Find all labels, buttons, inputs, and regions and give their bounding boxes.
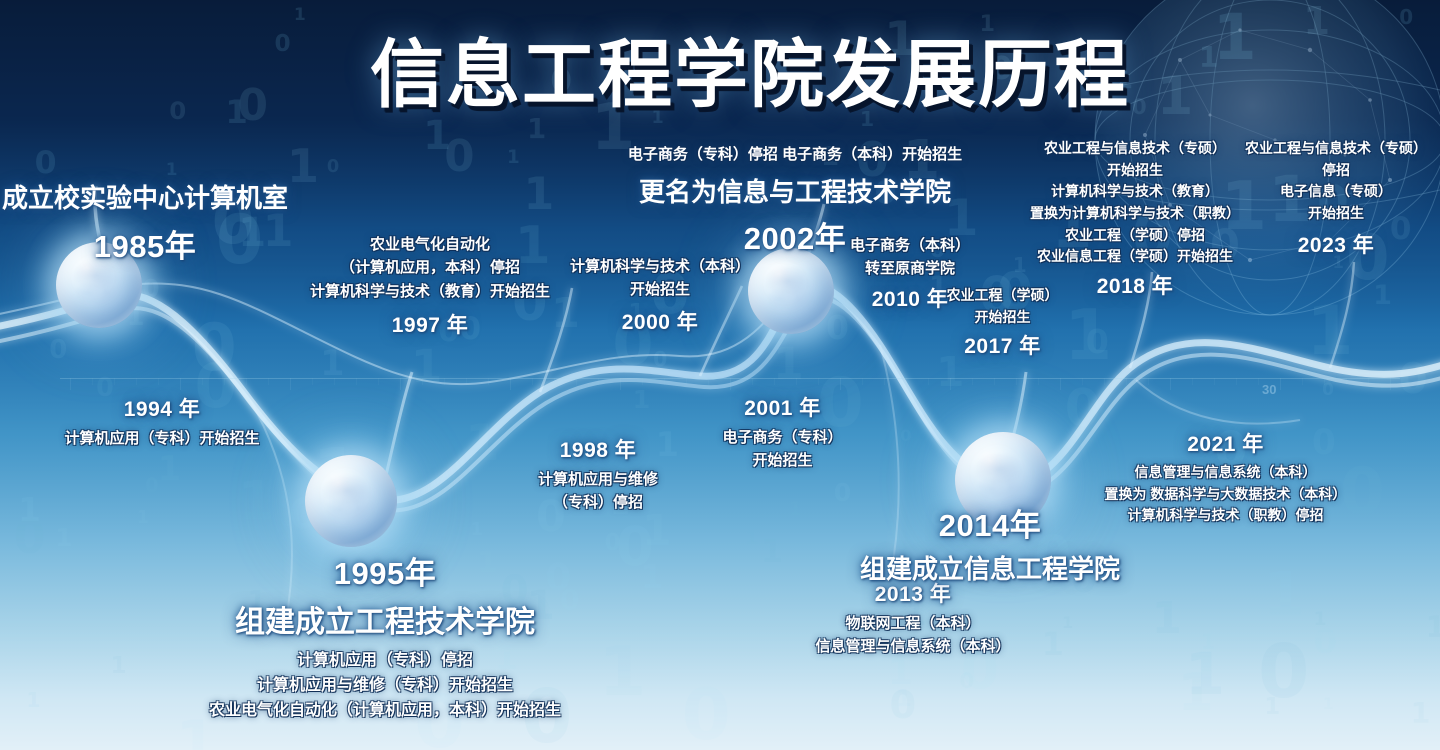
milestone-2001-line-1: 电子商务（专科）: [690, 426, 875, 449]
milestone-1995-line-3: 农业电气化自动化（计算机应用，本科）开始招生: [150, 699, 620, 724]
milestone-2001[interactable]: 2001 年 电子商务（专科） 开始招生: [690, 392, 875, 473]
milestone-1997-line-3: 计算机科学与技术（教育）开始招生: [295, 280, 565, 303]
milestone-2013-line-2: 信息管理与信息系统（本科）: [788, 635, 1038, 658]
milestone-1994[interactable]: 1994 年 计算机应用（专科）开始招生: [22, 393, 302, 450]
milestone-1997-line-1: 农业电气化自动化: [295, 233, 565, 256]
milestone-2021-line-2: 置换为 数据科学与大数据技术（本科）: [1098, 484, 1353, 506]
milestone-2021-year: 2021 年: [1098, 428, 1353, 458]
milestone-2010-line-1: 电子商务（本科）: [820, 234, 1000, 257]
milestone-1998-line-2: （专科）停招: [498, 491, 698, 514]
milestone-2023[interactable]: 农业工程与信息技术（专硕） 停招 电子信息（专硕） 开始招生 2023 年: [1232, 138, 1440, 259]
milestone-2014-year: 2014年: [840, 500, 1140, 545]
milestone-1995-line-1: 计算机应用（专科）停招: [150, 649, 620, 674]
milestone-2018-line-3: 计算机科学与技术（教育）: [1000, 181, 1270, 203]
milestone-1985-year: 1985年: [0, 221, 290, 266]
milestone-1994-line-1: 计算机应用（专科）开始招生: [22, 427, 302, 450]
milestone-2010-line-2: 转至原商学院: [820, 257, 1000, 280]
milestone-1997-line-2: （计算机应用，本科）停招: [295, 256, 565, 279]
milestone-2018-line-4: 置换为计算机科学与技术（职教）: [1000, 203, 1270, 225]
milestone-2021[interactable]: 2021 年 信息管理与信息系统（本科） 置换为 数据科学与大数据技术（本科） …: [1098, 428, 1353, 527]
milestone-2023-line-4: 开始招生: [1232, 203, 1440, 225]
milestone-2000-year: 2000 年: [560, 306, 760, 336]
milestone-2018-line-1: 农业工程与信息技术（专硕）: [1000, 138, 1270, 160]
milestone-1994-year: 1994 年: [22, 393, 302, 423]
milestone-2014[interactable]: 2014年 组建成立信息工程学院: [840, 500, 1140, 586]
timeline-infographic: 0000001111011110110111101011100000111011…: [0, 0, 1440, 750]
milestone-2017-line-2: 开始招生: [930, 307, 1075, 329]
milestone-2002-heading: 更名为信息与工程技术学院: [600, 172, 990, 209]
milestone-1997-year: 1997 年: [295, 309, 565, 339]
milestone-1997[interactable]: 农业电气化自动化 （计算机应用，本科）停招 计算机科学与技术（教育）开始招生 1…: [295, 233, 565, 339]
milestone-2018-year: 2018 年: [1000, 270, 1270, 300]
milestone-2000[interactable]: 计算机科学与技术（本科） 开始招生 2000 年: [560, 255, 760, 336]
milestone-2001-year: 2001 年: [690, 392, 875, 422]
milestone-2017-year: 2017 年: [930, 330, 1075, 360]
milestone-2018-line-2: 开始招生: [1000, 160, 1270, 182]
milestone-2021-line-1: 信息管理与信息系统（本科）: [1098, 462, 1353, 484]
milestone-2002-line-1: 电子商务（专科）停招 电子商务（本科）开始招生: [600, 143, 990, 166]
milestone-2000-line-2: 开始招生: [560, 278, 760, 301]
milestone-1985[interactable]: 成立校实验中心计算机室 1985年: [0, 178, 290, 266]
milestone-1998-line-1: 计算机应用与维修: [498, 468, 698, 491]
milestone-2023-line-1: 农业工程与信息技术（专硕）: [1232, 138, 1440, 160]
milestone-1995-year: 1995年: [150, 548, 620, 593]
milestone-2018[interactable]: 农业工程与信息技术（专硕） 开始招生 计算机科学与技术（教育） 置换为计算机科学…: [1000, 138, 1270, 300]
node-sphere-1995: [305, 455, 397, 547]
milestone-1985-heading: 成立校实验中心计算机室: [0, 178, 290, 215]
milestone-2013[interactable]: 2013 年 物联网工程（本科） 信息管理与信息系统（本科）: [788, 578, 1038, 659]
milestone-1998-year: 1998 年: [498, 434, 698, 464]
page-title: 信息工程学院发展历程: [370, 38, 1130, 112]
milestone-1998[interactable]: 1998 年 计算机应用与维修 （专科）停招: [498, 434, 698, 515]
milestone-1995-heading: 组建成立工程技术学院: [150, 597, 620, 641]
milestone-2000-line-1: 计算机科学与技术（本科）: [560, 255, 760, 278]
milestone-1995-line-2: 计算机应用与维修（专科）开始招生: [150, 674, 620, 699]
milestone-2023-line-3: 电子信息（专硕）: [1232, 181, 1440, 203]
milestone-2018-line-6: 农业信息工程（学硕）开始招生: [1000, 246, 1270, 268]
milestone-2018-line-5: 农业工程（学硕）停招: [1000, 225, 1270, 247]
milestone-2023-year: 2023 年: [1232, 229, 1440, 259]
milestone-2021-line-3: 计算机科学与技术（职教）停招: [1098, 505, 1353, 527]
milestone-2014-heading: 组建成立信息工程学院: [840, 549, 1140, 586]
milestone-2023-line-2: 停招: [1232, 160, 1440, 182]
milestone-1995[interactable]: 1995年 组建成立工程技术学院 计算机应用（专科）停招 计算机应用与维修（专科…: [150, 548, 620, 723]
milestone-2001-line-2: 开始招生: [690, 449, 875, 472]
milestone-2013-line-1: 物联网工程（本科）: [788, 612, 1038, 635]
